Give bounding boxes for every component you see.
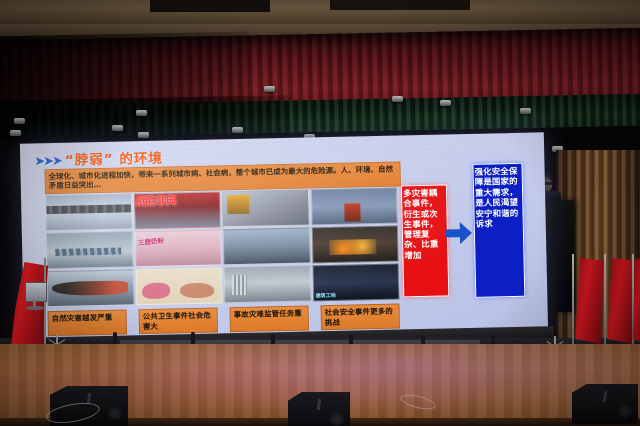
red-callout-box: 多灾害耦合事件，衍生或次生事件，管理复杂、比重增加 [401, 184, 449, 297]
stage-light-icon [232, 127, 243, 133]
slide-title-text: “脖弱” 的环境 [65, 147, 163, 169]
flag-pole-right-1 [572, 254, 574, 346]
snow-disaster-photo [45, 193, 132, 231]
milk-powder-text: 三鹿奶粉 [137, 237, 164, 247]
disaster-photo-grid: 战胜非典 三鹿奶粉 建筑工地 [45, 188, 399, 308]
projection-screen: ➤➤➤ “脖弱” 的环境 全球化、城市化进程加快，带来一系列城市病、社会病，整个… [20, 132, 548, 343]
sars-banner-text: 战胜非典 [135, 191, 220, 209]
ceiling-vent-secondary-icon [330, 0, 470, 10]
stage-light-icon [264, 86, 275, 92]
building-collapse-photo [224, 265, 311, 303]
stage-light-icon [520, 108, 531, 114]
tag-social-security: 社会安全事件更多的挑战 [320, 303, 400, 330]
stage-light-icon [440, 100, 451, 106]
blue-arrow-icon [446, 222, 472, 245]
bus-crash-photo [222, 189, 309, 227]
stage-light-icon [14, 118, 25, 124]
auditorium-photo: ➤➤➤ “脖弱” 的环境 全球化、城市化进程加快，带来一系列城市病、社会病，整个… [0, 0, 640, 426]
blue-callout-box: 强化安全保障是国家的重大需求，是人民渴望安宁和谐的诉求 [472, 163, 525, 298]
flood-street-photo [46, 231, 133, 269]
worker-protest-photo: 建筑工地 [312, 264, 399, 302]
stage-light-icon [10, 130, 21, 136]
slide-title: ➤➤➤ “脖弱” 的环境 [34, 147, 163, 170]
sars-banner-photo: 战胜非典 [133, 191, 220, 229]
swine-flu-cartoon [135, 267, 222, 305]
floor-monitor-speaker [572, 384, 638, 424]
stage-light-icon [392, 96, 403, 102]
tag-accident-disasters: 事故灾难监管任务重 [229, 305, 309, 332]
ceiling-vent-icon [150, 0, 270, 12]
stage-light-icon [138, 132, 149, 138]
sanlu-milk-powder-photo: 三鹿奶粉 [134, 229, 221, 267]
large-fire-photo [311, 226, 398, 264]
dead-fish-photo [47, 269, 134, 307]
floor-monitor-speaker [288, 392, 350, 426]
chevron-right-icon: ➤➤➤ [34, 154, 61, 170]
worker-protest-text: 建筑工地 [316, 293, 336, 299]
flag-pole-right-2 [604, 254, 606, 346]
ceiling [0, 0, 640, 26]
stage-light-icon [136, 110, 147, 116]
laptop-on-stand [23, 282, 47, 310]
capsized-boat-photo [310, 188, 397, 226]
stage-light-icon [112, 125, 123, 131]
tag-public-health: 公共卫生事件社会危害大 [139, 307, 219, 334]
hospital-crowd-photo [223, 227, 310, 265]
